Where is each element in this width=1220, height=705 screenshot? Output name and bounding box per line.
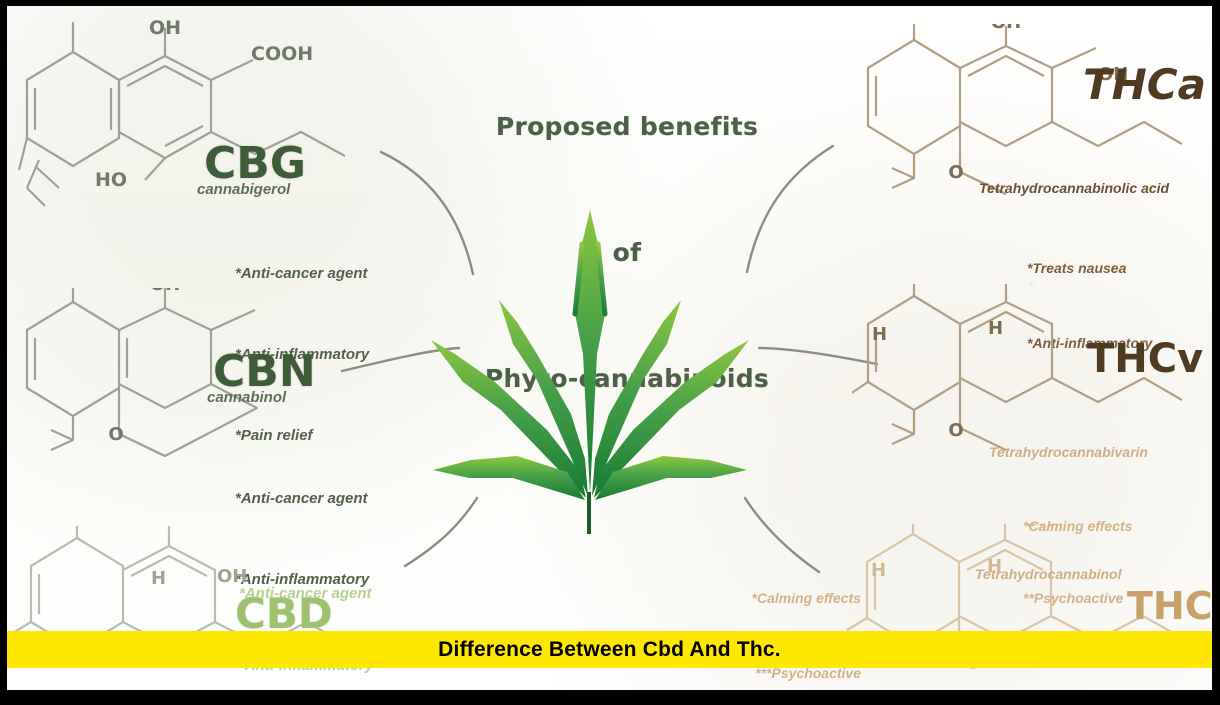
arrow-to-thca bbox=[747, 146, 833, 272]
label-o-thcv: O bbox=[948, 420, 963, 441]
caption-bar: Difference Between Cbd And Thc. bbox=[7, 631, 1212, 668]
thc-benefit-1: *Calming effects bbox=[701, 586, 861, 611]
image-frame: Proposed benefits of Phyto-cannabinoids bbox=[0, 0, 1220, 705]
label-o-thca: O bbox=[948, 162, 963, 183]
cbg-benefit-1: *Anti-cancer agent bbox=[235, 260, 369, 287]
label-o-cbn: O bbox=[108, 424, 123, 445]
label-oh: OH bbox=[149, 20, 181, 39]
cbg-full-name: cannabigerol bbox=[197, 181, 290, 198]
cbn-full-name: cannabinol bbox=[207, 389, 286, 406]
cannabis-leaf-icon bbox=[425, 204, 755, 534]
label-ho: HO bbox=[95, 169, 127, 191]
structure-thca: OH OH O bbox=[852, 24, 1182, 204]
cbn-benefit-1: *Anti-cancer agent bbox=[235, 485, 369, 512]
thca-benefit-1: *Treats nausea bbox=[1027, 256, 1152, 281]
label-oh-cbn: OH bbox=[150, 288, 180, 295]
cbd-benefit-1: *Anti-cancer agent bbox=[239, 582, 373, 606]
caption-text: Difference Between Cbd And Thc. bbox=[438, 638, 781, 662]
thc-abbrev: THC bbox=[1127, 584, 1212, 628]
thcv-abbrev: THCv bbox=[1087, 336, 1203, 382]
thca-abbrev: THCa bbox=[1083, 60, 1206, 109]
label-cooh: COOH bbox=[251, 43, 313, 65]
label-h-cbd: H bbox=[151, 568, 166, 589]
label-h-thc: H bbox=[871, 560, 886, 581]
label-oh-thcv: OH bbox=[1024, 284, 1054, 289]
thc-full-name: Tetrahydrocannabinol bbox=[975, 566, 1122, 582]
label-h2-thcv: H bbox=[988, 318, 1003, 339]
thca-full-name: Tetrahydrocannabinolic acid bbox=[979, 180, 1169, 196]
label-oh-thc: OH bbox=[1023, 524, 1053, 531]
infographic-canvas: Proposed benefits of Phyto-cannabinoids bbox=[7, 6, 1212, 690]
thcv-full-name: Tetrahydrocannabivarin bbox=[989, 444, 1148, 460]
label-oh-thca: OH bbox=[991, 24, 1021, 33]
label-h-thcv: H bbox=[872, 324, 887, 345]
